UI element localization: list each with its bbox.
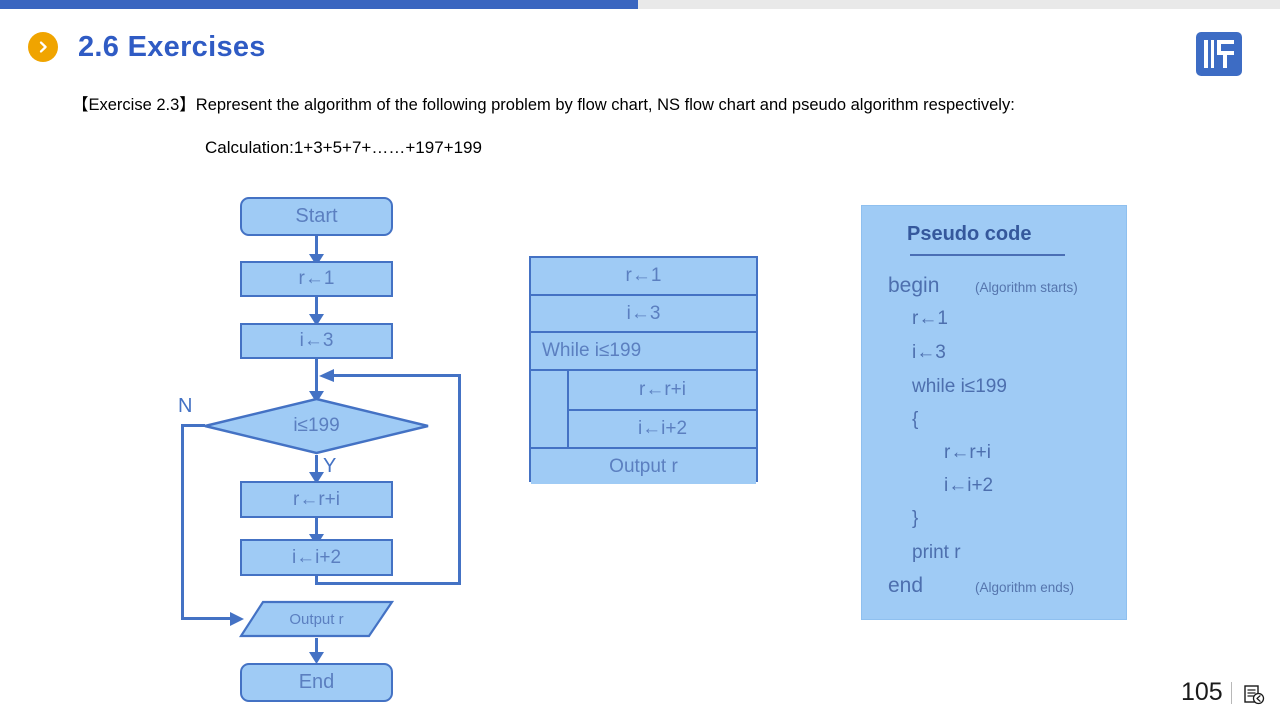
exercise-paragraph: 【Exercise 2.3】Represent the algorithm of… (72, 94, 1162, 118)
page-number: 105 (1181, 678, 1223, 707)
document-back-icon[interactable] (1243, 684, 1265, 711)
page-title: 2.6 Exercises (78, 33, 266, 62)
pseudo-code-divider (910, 254, 1065, 256)
calculation-line: Calculation:1+3+5+7+……+197+199 (205, 138, 482, 158)
arrowhead-left (319, 369, 334, 383)
connector-loop-right (458, 374, 461, 585)
flow-node-r-accumulate[interactable]: r←r+i (240, 481, 393, 518)
ns-loop-gutter (531, 369, 567, 447)
connector-no-vertical (181, 424, 184, 620)
flow-node-i-assign-3[interactable]: i←3 (240, 323, 393, 359)
ns-row-output[interactable]: Output r (531, 447, 756, 484)
chevron-right-icon (28, 32, 58, 62)
pseudo-line-i-increment[interactable]: i←i+2 (944, 475, 993, 497)
flow-node-output[interactable]: Output r (239, 600, 394, 638)
flow-node-output-label: Output r (239, 600, 394, 638)
ns-flow-chart: r←1 i←3 While i≤199 r←r+i i←i+2 Output r (529, 256, 758, 482)
pseudo-note-begin: (Algorithm starts) (975, 280, 1078, 295)
top-accent-bar-gray (638, 0, 1280, 9)
flow-node-condition[interactable]: i≤199 (203, 397, 430, 455)
ns-row-r-accumulate[interactable]: r←r+i (569, 371, 756, 409)
flow-node-r-assign-1[interactable]: r←1 (240, 261, 393, 297)
slide-title-row: 2.6 Exercises (28, 32, 266, 62)
ns-row-i-increment[interactable]: i←i+2 (569, 409, 756, 447)
flow-node-start[interactable]: Start (240, 197, 393, 236)
pseudo-line-close-brace[interactable]: } (912, 508, 918, 530)
footer-divider (1231, 682, 1232, 704)
pseudo-note-end: (Algorithm ends) (975, 580, 1074, 595)
brand-r-logo (1196, 32, 1242, 76)
connector-i3-to-condition (315, 359, 318, 395)
pseudo-code-title: Pseudo code (907, 223, 1031, 246)
flow-node-end[interactable]: End (240, 663, 393, 702)
ns-row-i-assign-3[interactable]: i←3 (531, 294, 756, 331)
pseudo-line-r-accumulate[interactable]: r←r+i (944, 442, 991, 464)
connector-no-horizontal-top (181, 424, 205, 427)
pseudo-line-while[interactable]: while i≤199 (912, 376, 1007, 398)
flow-node-condition-label: i≤199 (203, 397, 430, 455)
flow-node-i-increment[interactable]: i←i+2 (240, 539, 393, 576)
pseudo-line-begin[interactable]: begin (888, 274, 939, 298)
top-accent-bar-blue (0, 0, 638, 9)
ns-row-while-header[interactable]: While i≤199 (531, 331, 756, 369)
connector-loop-top (331, 374, 461, 377)
pseudo-line-i-assign-3[interactable]: i←3 (912, 342, 946, 364)
pseudo-code-panel: Pseudo code begin (Algorithm starts) r←1… (861, 205, 1127, 620)
pseudo-line-r-assign-1[interactable]: r←1 (912, 308, 948, 330)
connector-loop-bottom (315, 582, 461, 585)
pseudo-line-end[interactable]: end (888, 574, 923, 598)
connector-no-horizontal-bottom (181, 617, 236, 620)
ns-loop-body: r←r+i i←i+2 (567, 369, 756, 447)
pseudo-line-open-brace[interactable]: { (912, 409, 918, 431)
pseudo-line-print[interactable]: print r (912, 542, 961, 564)
ns-row-r-assign-1[interactable]: r←1 (531, 258, 756, 294)
branch-label-yes: Y (323, 456, 336, 476)
branch-label-no: N (178, 396, 192, 416)
